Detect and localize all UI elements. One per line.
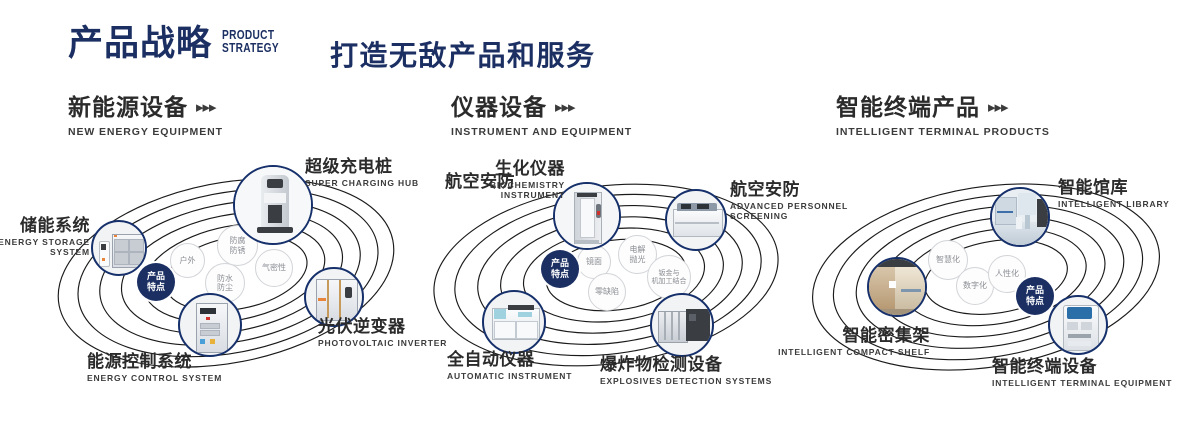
core-line-1: 产品 xyxy=(551,258,569,269)
header-title-group: 产品战略 PRODUCT STRATEGY xyxy=(68,26,295,61)
cluster-new-energy: 户外 防腐 防锈 防水 防尘 气密性 产品 特点 储 xyxy=(40,155,440,400)
section-title-cn: 新能源设备▸▸▸ xyxy=(68,96,223,119)
node-photo-explosives-scanner[interactable] xyxy=(650,293,714,357)
page-title-cn: 产品战略 xyxy=(68,26,212,61)
section-title-en: NEW ENERGY EQUIPMENT xyxy=(68,126,223,138)
node-photo-charging-pile[interactable] xyxy=(233,165,313,245)
section-title-cn: 智能终端产品▸▸▸ xyxy=(836,96,1050,119)
node-label-compact-shelf: 智能密集架 INTELLIGENT COMPACT SHELF xyxy=(755,327,930,357)
node-photo-screening-machine[interactable] xyxy=(665,189,727,251)
section-title-cn: 仪器设备▸▸▸ xyxy=(451,96,632,119)
cluster-instrument: 镜面 电解 抛光 零缺陷 钣金与 机加工结合 产品 特点 航空安防 xyxy=(420,155,820,400)
infographic-page: 产品战略 PRODUCT STRATEGY 打造无敌产品和服务 新能源设备▸▸▸… xyxy=(0,0,1200,422)
node-photo-energy-storage[interactable] xyxy=(91,220,147,276)
page-title-en-line2: STRATEGY xyxy=(222,41,279,54)
node-photo-control-cabinet[interactable] xyxy=(178,293,242,357)
node-label-explosives-detection: 爆炸物检测设备 EXPLOSIVES DETECTION SYSTEMS xyxy=(600,356,810,386)
page-subtitle: 打造无敌产品和服务 xyxy=(330,34,596,74)
core-bubble-product-features: 产品 特点 xyxy=(1016,277,1054,315)
page-title-en-line1: PRODUCT xyxy=(222,28,279,41)
chevron-triple-icon: ▸▸▸ xyxy=(555,100,575,115)
core-line-1: 产品 xyxy=(1026,285,1044,296)
node-photo-auto-analyzer[interactable] xyxy=(482,290,546,354)
core-line-2: 特点 xyxy=(147,282,165,293)
chevron-triple-icon: ▸▸▸ xyxy=(988,100,1008,115)
section-heading-intelligent-terminal: 智能终端产品▸▸▸ INTELLIGENT TERMINAL PRODUCTS xyxy=(836,96,1050,138)
section-heading-instrument: 仪器设备▸▸▸ INSTRUMENT AND EQUIPMENT xyxy=(451,96,632,138)
node-label-control-cabinet: 能源控制系统 ENERGY CONTROL SYSTEM xyxy=(87,353,257,383)
section-heading-new-energy: 新能源设备▸▸▸ NEW ENERGY EQUIPMENT xyxy=(68,96,223,138)
core-bubble-product-features: 产品 特点 xyxy=(541,250,579,288)
chevron-triple-icon: ▸▸▸ xyxy=(196,100,216,115)
keyword-bubble: 零缺陷 xyxy=(588,273,626,311)
node-photo-compact-shelf[interactable] xyxy=(867,257,927,317)
keyword-bubble: 户外 xyxy=(170,243,205,278)
section-title-en: INSTRUMENT AND EQUIPMENT xyxy=(451,126,632,138)
core-line-2: 特点 xyxy=(551,269,569,280)
section-title-en: INTELLIGENT TERMINAL PRODUCTS xyxy=(836,126,1050,138)
node-label-energy-storage: 储能系统 ENERGY STORAGE SYSTEM xyxy=(0,217,90,258)
node-photo-kiosk-terminal[interactable] xyxy=(1048,295,1108,355)
core-line-1: 产品 xyxy=(147,271,165,282)
node-label-biochemistry-instrument: 生化仪器 BIOCHEMISTRY INSTRUMENT xyxy=(440,160,565,201)
core-line-2: 特点 xyxy=(1026,296,1044,307)
node-label-intelligent-terminal-equipment: 智能终端设备 INTELLIGENT TERMINAL EQUIPMENT xyxy=(992,358,1200,388)
cluster-intelligent-terminal: 智慧化 数字化 人性化 产品 特点 智能馆库 INTELLIGENT LIBRA… xyxy=(800,155,1200,400)
node-label-intelligent-library: 智能馆库 INTELLIGENT LIBRARY xyxy=(1058,179,1200,209)
page-title-en: PRODUCT STRATEGY xyxy=(222,28,279,55)
node-photo-intelligent-library[interactable] xyxy=(990,187,1050,247)
keyword-bubble: 气密性 xyxy=(255,249,293,287)
